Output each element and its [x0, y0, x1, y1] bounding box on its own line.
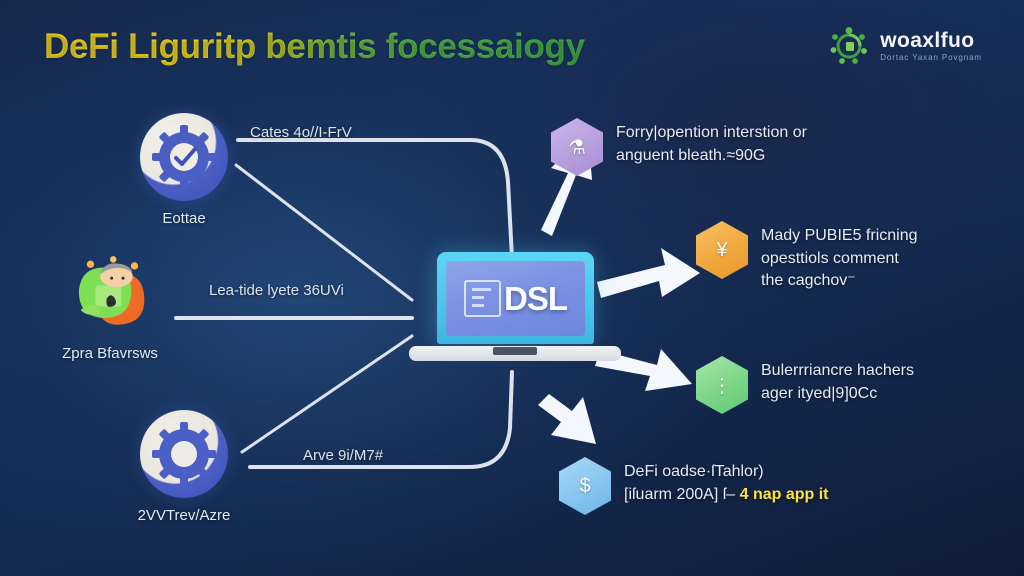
right-node-2-line-1: Mady PUBIE5 fricning	[761, 225, 918, 248]
left-node-2-link-label: Lea-tide lyete 36UVi	[209, 282, 344, 299]
right-node-2-line-3: the cagchov⁻	[761, 270, 918, 293]
right-node-4-text: DeFi oadse·ſTahlor) [iſuarm 200A] ſ– 4 n…	[624, 457, 829, 506]
right-node-4[interactable]: $ DeFi oadse·ſTahlor) [iſuarm 200A] ſ– 4…	[559, 457, 829, 515]
lab-flask-hexagon-icon: ⚗	[551, 118, 603, 176]
arrow-to-node-4	[538, 394, 596, 444]
right-node-1-line-1: Forry|opention interstion or	[616, 122, 807, 145]
left-node-3[interactable]: 2VVTrev/Azre	[99, 410, 269, 524]
right-node-1-text: Forry|opention interstion or anguent ble…	[616, 118, 807, 167]
right-node-1[interactable]: ⚗ Forry|opention interstion or anguent b…	[551, 118, 807, 176]
right-node-1-line-2: anguent bleath.≈90G	[616, 145, 807, 168]
left-node-1[interactable]: Eottae	[99, 113, 269, 227]
gear-check-icon	[140, 113, 228, 201]
character-blob-icon	[66, 248, 154, 336]
laptop-screen-label: DSL	[504, 280, 567, 318]
chart-hexagon-icon: ⋮	[696, 356, 748, 414]
right-node-4-line-2: [iſuarm 200A] ſ– 4 nap app it	[624, 484, 829, 507]
right-node-4-highlight: 4 nap app it	[740, 486, 829, 503]
gear-icon	[140, 410, 228, 498]
right-node-3-line-1: Bulerrriancre hachers	[761, 360, 914, 383]
circuit-chip-icon	[464, 280, 501, 317]
right-node-3-text: Bulerrriancre hachers ager ityed|9]0Cc	[761, 356, 914, 405]
right-node-2-line-2: opesttiols comment	[761, 248, 918, 271]
left-node-1-label: Eottae	[99, 210, 269, 227]
right-node-3-line-2: ager ityed|9]0Cc	[761, 383, 914, 406]
slide-canvas: DeFi Liguritp bemtis focessaiogy woaxlfu…	[0, 0, 1024, 576]
laptop-lid: DSL	[437, 252, 594, 344]
currency-hexagon-icon: ¥	[696, 221, 748, 279]
left-node-2-label: Zpra Bfavrsws	[25, 345, 195, 362]
right-node-4-line-2-text: [iſuarm 200A] ſ–	[624, 486, 740, 503]
laptop-screen: DSL	[446, 261, 585, 336]
right-node-3[interactable]: ⋮ Bulerrriancre hachers ager ityed|9]0Cc	[696, 356, 914, 414]
right-node-2-text: Mady PUBIE5 fricning opesttiols comment …	[761, 221, 918, 293]
left-node-1-link-label: Cates 4o//I-FrV	[250, 124, 352, 141]
laptop-icon: DSL	[409, 252, 621, 368]
right-node-4-line-1: DeFi oadse·ſTahlor)	[624, 461, 829, 484]
laptop-trackpad	[493, 347, 537, 355]
left-node-3-link-label: Arve 9i/M7#	[303, 447, 383, 464]
dollar-hexagon-icon: $	[559, 457, 611, 515]
left-node-3-label: 2VVTrev/Azre	[99, 507, 269, 524]
left-node-2[interactable]: Zpra Bfavrsws	[25, 248, 195, 362]
right-node-2[interactable]: ¥ Mady PUBIE5 fricning opesttiols commen…	[696, 221, 918, 293]
